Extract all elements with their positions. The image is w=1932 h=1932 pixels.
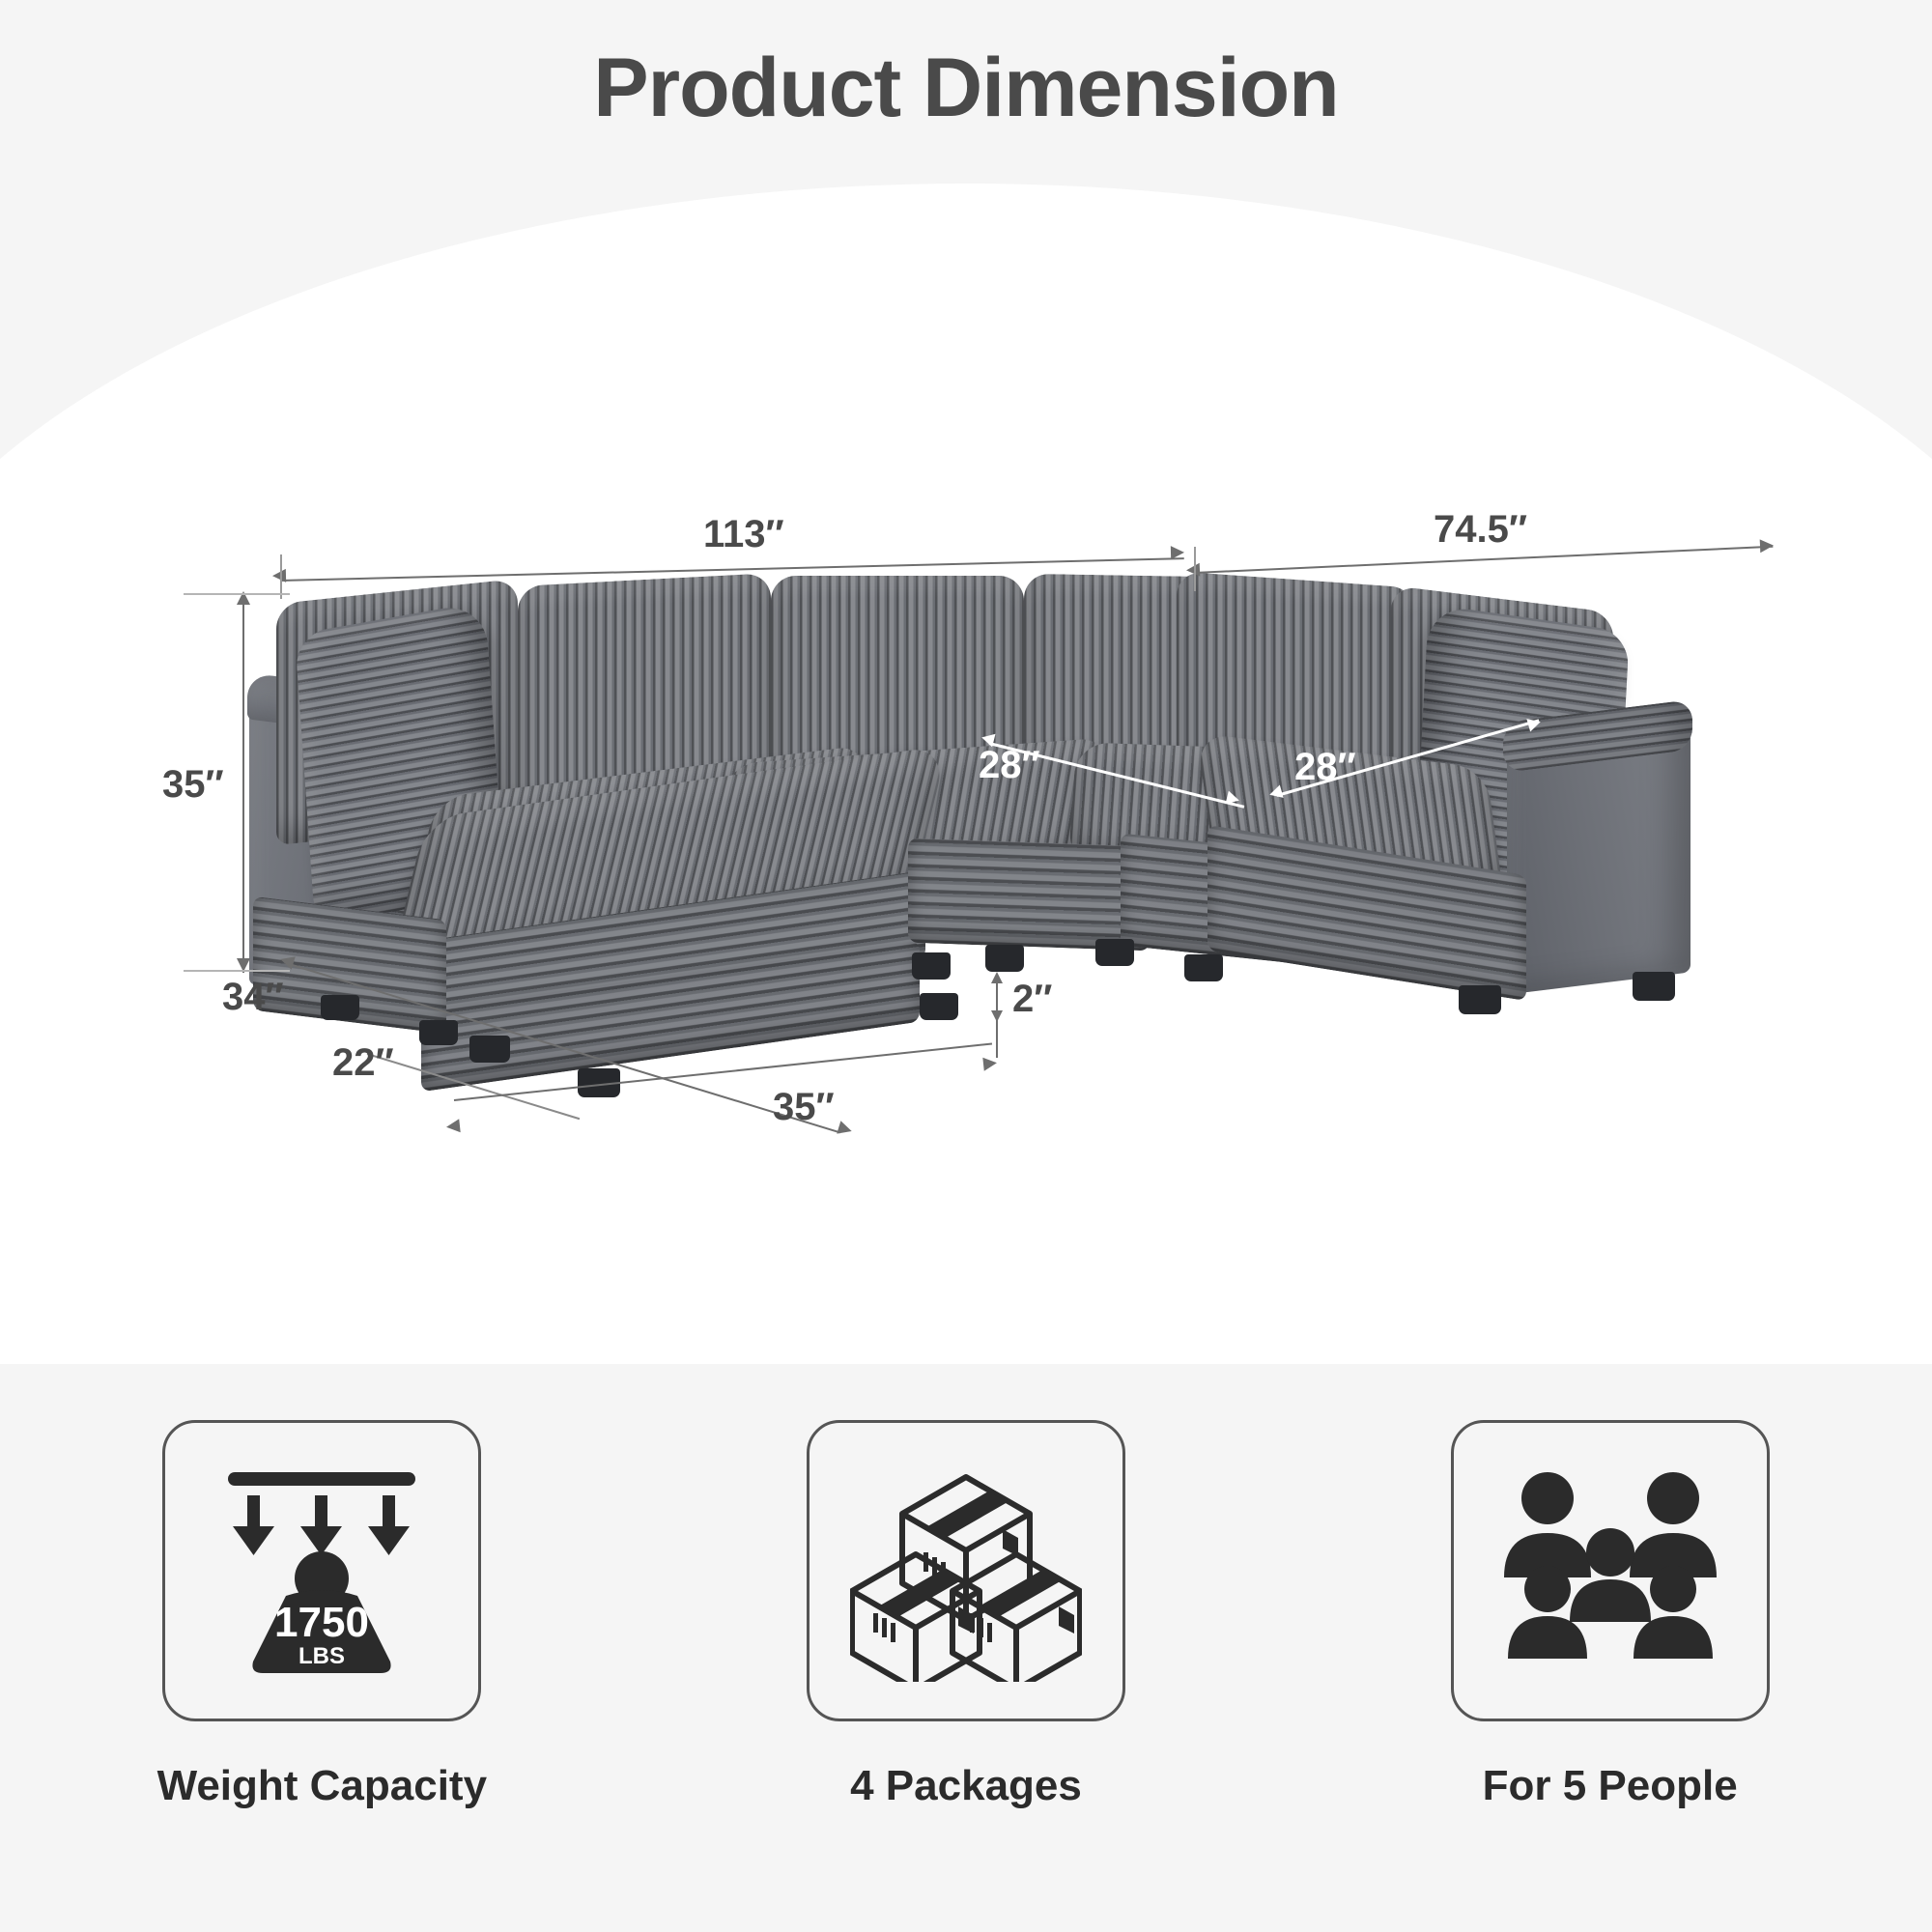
middle-module-base: [908, 838, 1150, 952]
product-dimension-infographic: Product Dimension: [0, 0, 1932, 1932]
dim-ext-line-bottom: [184, 970, 290, 972]
dim-arrow-right-745: [1760, 539, 1775, 554]
weight-unit: LBS: [298, 1643, 345, 1669]
dim-arrow-left-113: [272, 569, 286, 582]
dim-label-height: 35″: [162, 763, 224, 807]
ottoman-foot-1: [920, 993, 958, 1020]
sofa-foot-6: [985, 945, 1024, 972]
people-icon: [1494, 1460, 1726, 1682]
sofa-foot-5: [912, 952, 951, 980]
feature-label-weight-capacity: Weight Capacity: [157, 1762, 487, 1810]
weight-capacity-icon: 1750 LBS: [201, 1455, 442, 1687]
sofa-foot-9: [1459, 985, 1501, 1014]
sofa-foot-7: [1095, 939, 1134, 966]
dim-arrow-2in-top: [991, 972, 1003, 983]
features-panel: 1750 LBS Weight Capacity: [0, 1364, 1932, 1932]
dim-arrow-right-113: [1171, 546, 1184, 559]
dim-ext-line-top: [184, 593, 290, 595]
dimension-panel: Product Dimension: [0, 0, 1932, 1364]
sofa-foot-2: [469, 1036, 510, 1063]
feature-label-people: For 5 People: [1483, 1762, 1738, 1810]
people-icon-box: [1451, 1420, 1770, 1721]
dim-label-ottoman-width: 35″: [773, 1086, 835, 1129]
dim-label-leg-height: 2″: [1012, 978, 1052, 1021]
feature-weight-capacity: 1750 LBS Weight Capacity: [119, 1420, 525, 1810]
features-row: 1750 LBS Weight Capacity: [0, 1364, 1932, 1932]
dim-label-depth: 34″: [222, 976, 284, 1019]
dim-label-arm-width: 22″: [332, 1041, 394, 1085]
feature-label-packages: 4 Packages: [850, 1762, 1082, 1810]
feature-packages: 4 Packages: [763, 1420, 1169, 1810]
sofa-illustration: 113″ 74.5″ 35″ 34″ 22″: [0, 0, 1932, 1364]
dim-label-width-main: 113″: [703, 513, 784, 556]
dim-arrow-35b-left: [445, 1119, 460, 1133]
dim-arrow-35b-right: [982, 1056, 997, 1070]
feature-people: For 5 People: [1407, 1420, 1813, 1810]
weight-capacity-icon-box: 1750 LBS: [162, 1420, 481, 1721]
dim-arrow-2in-bottom: [991, 1010, 1003, 1022]
sofa-foot-1: [419, 1020, 458, 1045]
packages-icon: [850, 1460, 1082, 1682]
dim-line-height: [242, 602, 244, 973]
dim-label-seat-left: 28″: [979, 744, 1040, 787]
dim-arrow-34-end: [837, 1121, 853, 1137]
dim-arrow-left-745: [1186, 563, 1201, 578]
sofa-foot-10: [1633, 972, 1675, 1001]
dim-tick-745-left: [1194, 547, 1196, 591]
weight-value: 1750: [274, 1599, 369, 1646]
sofa-foot-4: [321, 995, 359, 1020]
packages-icon-box: [807, 1420, 1125, 1721]
dim-label-seat-right: 28″: [1294, 746, 1356, 789]
sofa-foot-8: [1184, 954, 1223, 981]
dim-label-width-right: 74.5″: [1434, 508, 1527, 552]
